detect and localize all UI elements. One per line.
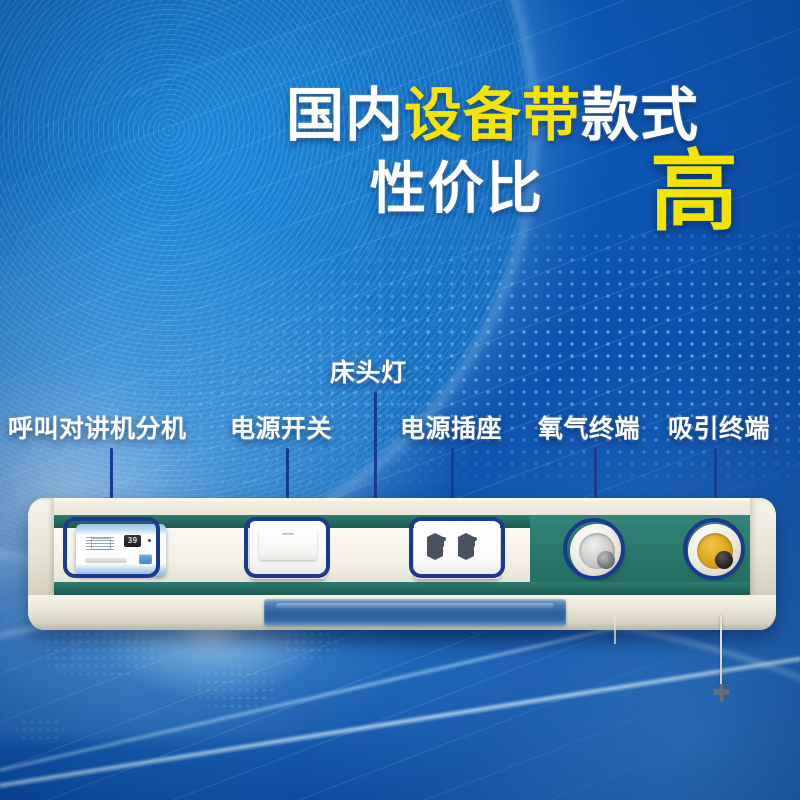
callout-label-power-socket: 电源插座 <box>400 416 502 441</box>
highlight-suction-terminal <box>683 518 745 580</box>
headline-part-2: 设备带 <box>404 81 581 149</box>
headline-part-1: 国内 <box>286 81 404 149</box>
halftone-dot-pattern-left <box>30 300 450 490</box>
halftone-dot-pattern <box>170 230 800 490</box>
oxygen-cord-upper <box>614 616 616 644</box>
headline-part-3: 款式 <box>581 81 699 149</box>
pull-cord-grip-icon[interactable] <box>714 684 729 702</box>
callout-label-power-switch: 电源开关 <box>230 416 332 441</box>
callout-label-suction-terminal: 吸引终端 <box>668 416 770 441</box>
pull-cord[interactable] <box>720 616 722 688</box>
headline-line-1: 国内设备带款式 <box>286 86 699 144</box>
highlight-power-switch <box>244 517 330 578</box>
highlight-oxygen-terminal <box>563 518 625 580</box>
callout-label-call-intercom: 呼叫对讲机分机 <box>8 416 187 441</box>
headline-block: 国内设备带款式 性价比 高 <box>0 0 800 250</box>
panel-stripe-bottom <box>54 582 750 595</box>
highlight-call-intercom <box>63 517 160 578</box>
promo-image-root: 国内设备带款式 性价比 高 呼叫对讲机分机 电源开关 床头灯 电源插座 氧气终端… <box>0 0 800 800</box>
highlight-power-socket <box>409 517 505 578</box>
headline-big-word: 高 <box>650 148 738 236</box>
bed-lamp-diffuser[interactable] <box>264 599 566 626</box>
callout-label-bed-lamp: 床头灯 <box>330 360 407 385</box>
headline-line-2: 性价比 <box>370 162 544 218</box>
callout-label-oxygen-terminal: 氧气终端 <box>538 416 640 441</box>
